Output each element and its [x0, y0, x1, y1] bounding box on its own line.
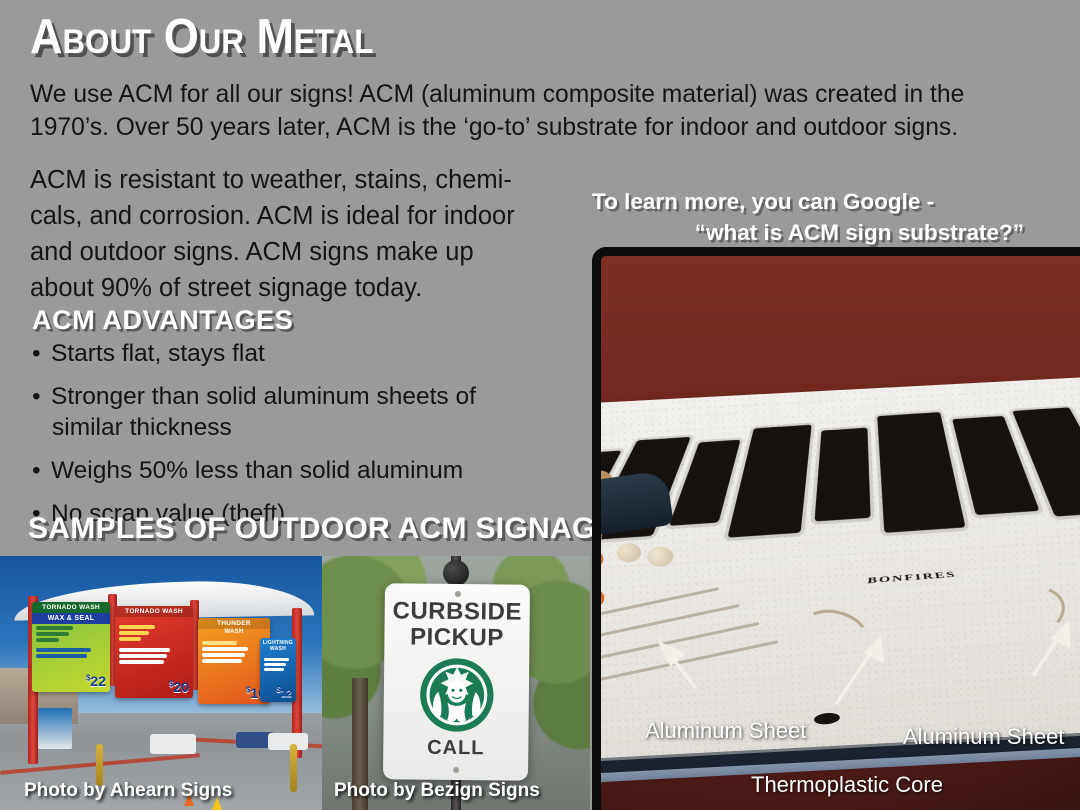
callout-aluminum-sheet-left: Aluminum Sheet [645, 718, 806, 744]
bullet-icon: • [32, 338, 41, 369]
callout-thermoplastic-core: Thermoplastic Core [751, 772, 943, 798]
list-item-continuation: similar thickness [51, 412, 570, 443]
panel-decorative-lines [601, 598, 798, 731]
page-title: About Our Metal [30, 10, 373, 64]
advantages-list: • Starts flat, stays flat • Stronger tha… [30, 338, 570, 529]
list-item: • Stronger than solid aluminum sheets of… [30, 381, 570, 443]
callout-aluminum-sheet-right: Aluminum Sheet [903, 724, 1064, 750]
slide-canvas: About Our Metal We use ACM for all our s… [0, 0, 1080, 810]
bollard [290, 744, 297, 792]
starbucks-curbside-sign-photo: CURBSIDE PICKUP CALL Photo by Bezign Sig… [322, 556, 590, 810]
bullet-icon: • [32, 381, 41, 412]
intro-paragraph: We use ACM for all our signs! ACM (alumi… [30, 78, 1005, 144]
wash-panel-subtitle: WAX & SEAL [32, 613, 110, 624]
wash-menu-panel-1: TORNADO WASH WAX & SEAL $22 [32, 602, 110, 692]
list-item-label: Weighs 50% less than solid aluminum [51, 457, 463, 484]
sign-line-1: CURBSIDE [385, 597, 530, 627]
advantages-heading: ACM ADVANTAGES [32, 305, 293, 336]
wash-panel-title: TORNADO WASH [32, 602, 110, 613]
google-note-line-2: “what is ACM sign substrate?” [592, 217, 1032, 248]
wash-panel-title: THUNDER [198, 618, 270, 629]
bullet-icon: • [32, 455, 41, 486]
wash-panel-subtitle: WASH [198, 629, 270, 635]
samples-heading: SAMPLES OF OUTDOOR ACM SIGNAGE [28, 512, 616, 546]
pay-kiosk [38, 708, 72, 749]
sign-line-2: PICKUP [384, 623, 529, 653]
paragraph2-line-1: ACM is resistant to weather, stains, che… [30, 162, 575, 198]
list-item-label: Starts flat, stays flat [51, 340, 265, 367]
post-finial [443, 560, 469, 586]
wash-menu-panel-2: TORNADO WASH $20 [115, 606, 193, 698]
vehicle [268, 733, 308, 750]
curbside-pickup-sign: CURBSIDE PICKUP CALL [383, 583, 530, 781]
acm-sign-panel: BONFIRES [601, 371, 1080, 761]
sign-line-3: CALL [383, 736, 528, 761]
acm-panel-closeup-photo: BONFIRES [592, 247, 1080, 810]
pumpkin-icon [617, 542, 642, 562]
photo-credit-ahearn: Photo by Ahearn Signs [24, 780, 232, 802]
vintage-truck-graphic [601, 470, 675, 539]
photo-credit-bezign: Photo by Bezign Signs [334, 780, 540, 802]
pumpkin-icon [647, 546, 674, 567]
list-item: • Starts flat, stays flat [30, 338, 570, 369]
list-item: • Weighs 50% less than solid aluminum [30, 455, 570, 486]
wash-menu-panel-4: LIGHTNING WASH $12 [260, 638, 296, 702]
vehicle [150, 734, 196, 754]
paragraph2-line-3: and outdoor signs. ACM signs make up [30, 234, 575, 270]
wash-panel-price: $12 [276, 685, 292, 699]
acm-properties-paragraph: ACM is resistant to weather, stains, che… [30, 162, 575, 306]
list-item-label: Stronger than solid aluminum sheets of [51, 383, 476, 410]
wash-panel-title: TORNADO WASH [115, 606, 193, 617]
paragraph2-line-4: about 90% of street signage today. [30, 270, 575, 306]
paragraph2-line-2: cals, and corrosion. ACM is ideal for in… [30, 198, 575, 234]
sign-face: BONFIRES [601, 371, 1080, 761]
wash-panel-price: $22 [86, 673, 106, 689]
wash-panel-title: LIGHTNING WASH [260, 638, 296, 654]
google-suggestion-note: To learn more, you can Google - “what is… [592, 186, 1032, 248]
car-wash-signage-photo: TORNADO WASH WAX & SEAL $22 TORNADO WASH… [0, 556, 322, 810]
wash-panel-price: $20 [169, 679, 189, 695]
starbucks-siren-logo-icon [417, 656, 496, 735]
google-note-line-1: To learn more, you can Google - [592, 186, 1032, 217]
